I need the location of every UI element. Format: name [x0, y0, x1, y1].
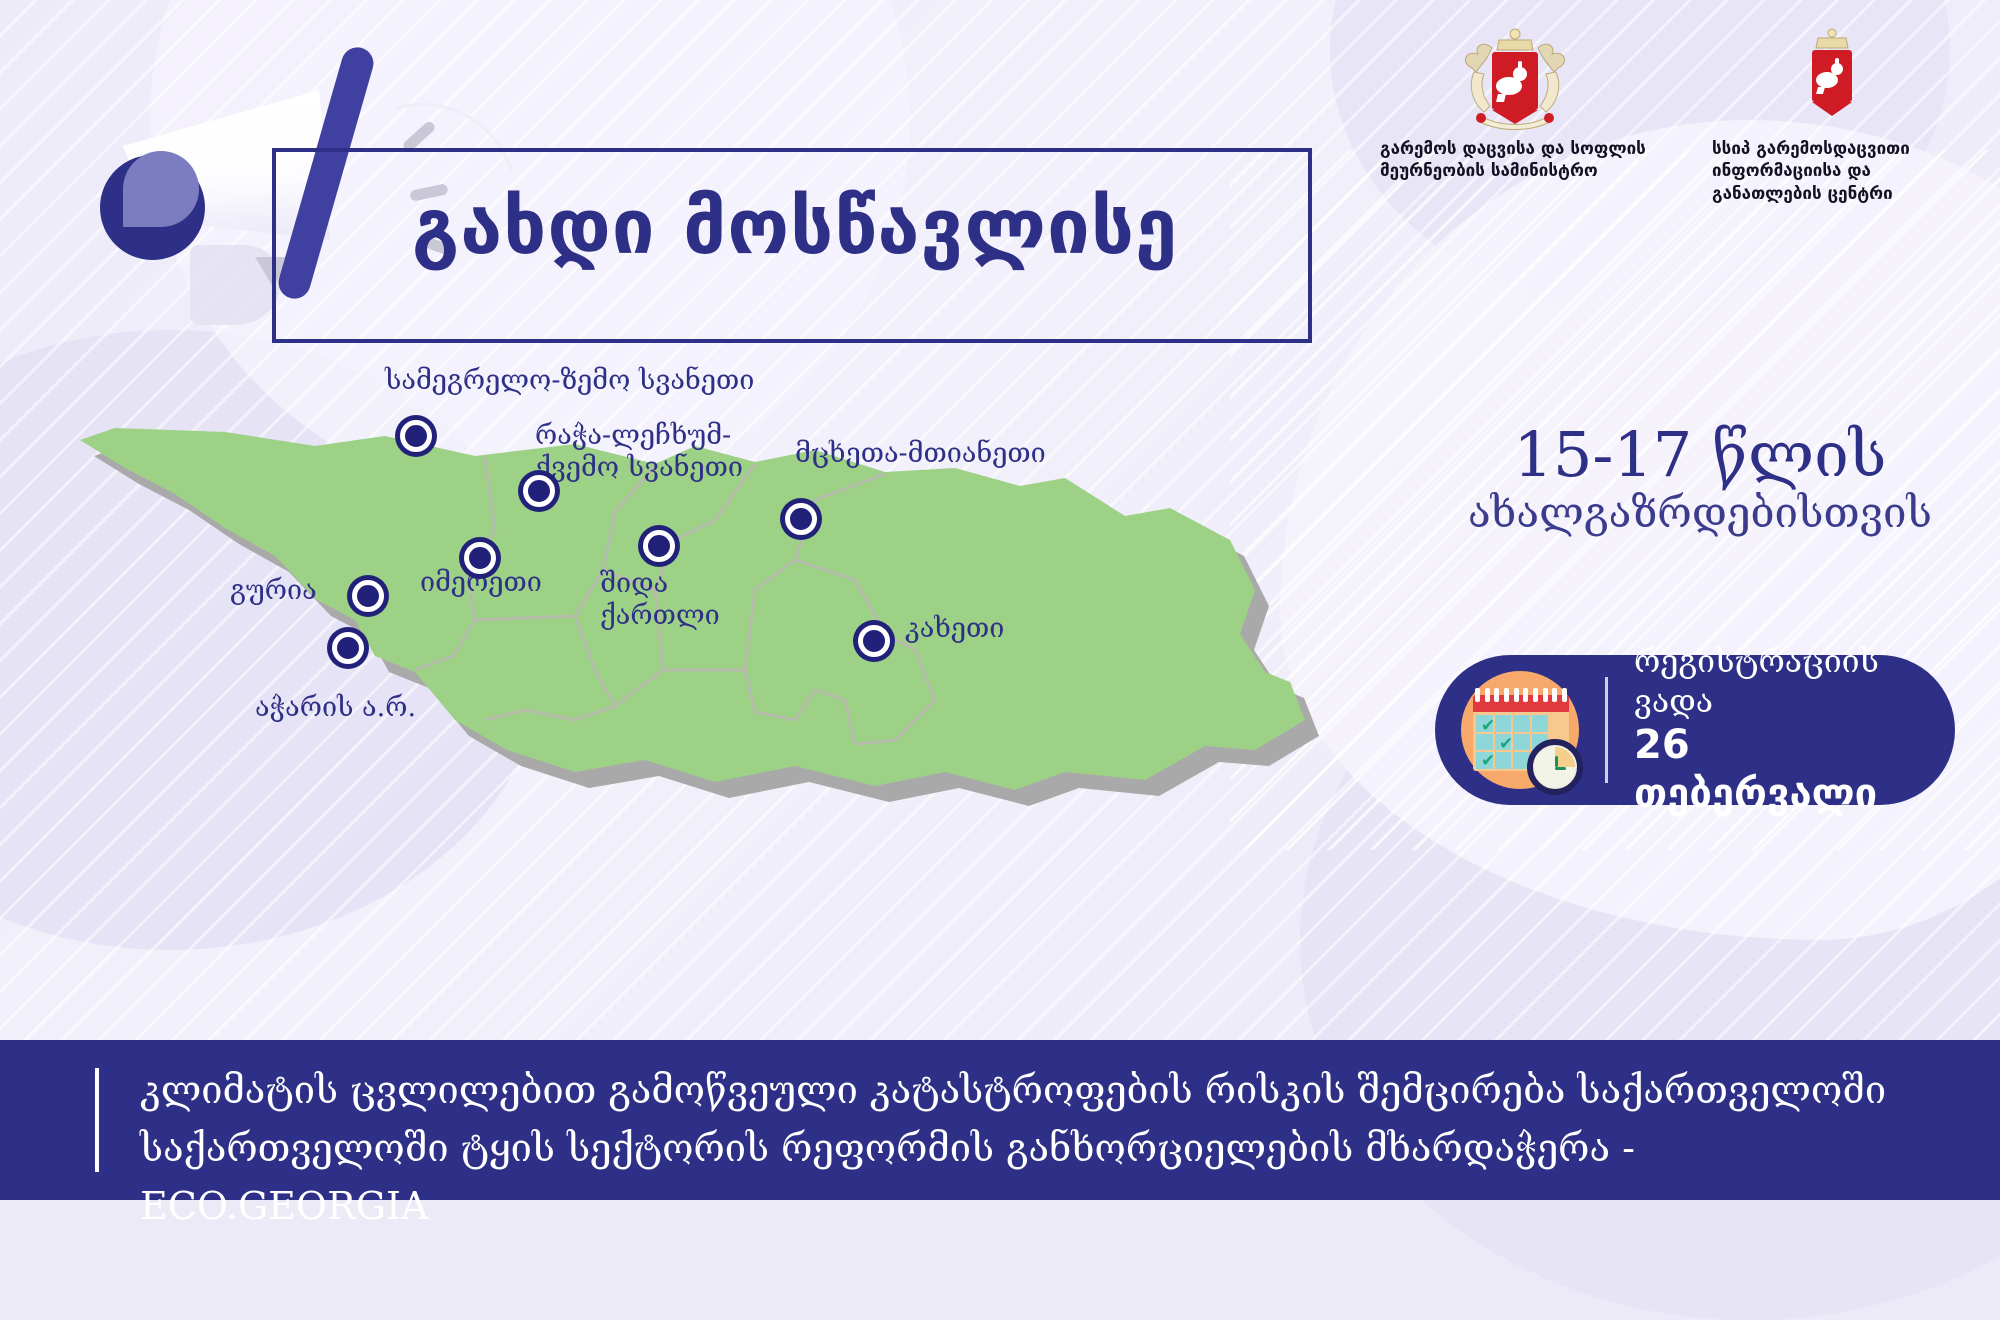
- age-audience: ახალგაზრდებისთვის: [1400, 488, 2000, 537]
- clock-icon: [1527, 739, 1583, 795]
- map-label-shida-kartli: შიდა ქართლი: [600, 568, 720, 632]
- footer-accent-bar: [95, 1068, 99, 1172]
- georgia-region-map: სამეგრელო-ზემო სვანეთი რაჭა-ლეჩხუმ- ქვემ…: [55, 420, 1355, 980]
- map-pin-imereti[interactable]: [464, 542, 496, 574]
- registration-deadline-badge: ✔ ✔ ✔ რეგისტრაციის ვადა 26 თებერვალი: [1435, 655, 1955, 805]
- calendar-check-1: ✔: [1481, 718, 1495, 735]
- map-label-mtskheta: მცხეთა-მთიანეთი: [795, 438, 1046, 470]
- map-pin-guria[interactable]: [352, 580, 384, 612]
- map-pin-mtskheta[interactable]: [785, 503, 817, 535]
- clock-minute-hand: [1555, 767, 1566, 770]
- center-logo-line1: სსიპ გარემოსდაცვითი: [1712, 138, 1952, 160]
- ministry-logo-line1: გარემოს დაცვისა და სოფლის: [1380, 138, 1650, 160]
- ministry-logo-text: გარემოს დაცვისა და სოფლის მეურნეობის სამ…: [1380, 138, 1650, 183]
- georgia-coat-of-arms-icon: [1380, 28, 1650, 132]
- age-range: 15-17 წლის: [1430, 418, 1970, 491]
- calendar-check-2: ✔: [1499, 736, 1513, 753]
- ministry-logo: გარემოს დაცვისა და სოფლის მეურნეობის სამ…: [1380, 28, 1650, 205]
- clock-hour-hand: [1555, 756, 1558, 767]
- calendar-check-3: ✔: [1481, 753, 1495, 770]
- map-label-racha: რაჭა-ლეჩხუმ- ქვემო სვანეთი: [535, 420, 743, 484]
- center-logo-line3: განათლების ცენტრი: [1712, 183, 1952, 205]
- calendar-rings: [1475, 688, 1567, 702]
- map-pin-racha[interactable]: [523, 475, 555, 507]
- map-label-racha-line1: რაჭა-ლეჩხუმ-: [535, 420, 743, 452]
- map-label-kakheti: კახეთი: [905, 613, 1004, 645]
- footer-line-2: საქართველოში ტყის სექტორის რეფორმის განხ…: [140, 1120, 1900, 1236]
- map-label-adjara: აჭარის ა.რ.: [255, 692, 416, 724]
- footer-line-1: კლიმატის ცვლილებით გამოწვეული კატასტროფე…: [140, 1062, 1900, 1120]
- map-svg: [55, 420, 1355, 980]
- map-pin-shida-kartli[interactable]: [643, 530, 675, 562]
- footer-banner: კლიმატის ცვლილებით გამოწვეული კატასტროფე…: [0, 1040, 2000, 1200]
- georgia-shield-icon: [1712, 28, 1952, 132]
- map-label-shida-kartli-line2: ქართლი: [600, 600, 720, 632]
- deadline-label: რეგისტრაციის ვადა: [1634, 641, 1929, 721]
- deadline-text: რეგისტრაციის ვადა 26 თებერვალი: [1634, 641, 1929, 819]
- map-label-racha-line2: ქვემო სვანეთი: [535, 452, 743, 484]
- megaphone-cap-highlight: [123, 151, 199, 227]
- map-label-guria: გურია: [230, 575, 317, 607]
- deadline-date: 26 თებერვალი: [1634, 721, 1929, 819]
- center-logo: სსიპ გარემოსდაცვითი ინფორმაციისა და განა…: [1712, 28, 1952, 205]
- calendar-clock-icon: ✔ ✔ ✔: [1461, 671, 1579, 789]
- logo-group: გარემოს დაცვისა და სოფლის მეურნეობის სამ…: [1380, 28, 1952, 205]
- map-pin-samegrelo[interactable]: [400, 420, 432, 452]
- map-label-samegrelo: სამეგრელო-ზემო სვანეთი: [385, 365, 754, 397]
- center-logo-line2: ინფორმაციისა და: [1712, 160, 1952, 182]
- map-pin-kakheti[interactable]: [858, 625, 890, 657]
- map-label-shida-kartli-line1: შიდა: [600, 568, 720, 600]
- page-title: გახდი მოსწავლისე: [300, 182, 1290, 271]
- center-logo-text: სსიპ გარემოსდაცვითი ინფორმაციისა და განა…: [1712, 138, 1952, 205]
- map-pin-adjara[interactable]: [332, 632, 364, 664]
- ministry-logo-line2: მეურნეობის სამინისტრო: [1380, 160, 1650, 182]
- footer-text: კლიმატის ცვლილებით გამოწვეული კატასტროფე…: [140, 1062, 1900, 1235]
- badge-divider: [1605, 677, 1608, 783]
